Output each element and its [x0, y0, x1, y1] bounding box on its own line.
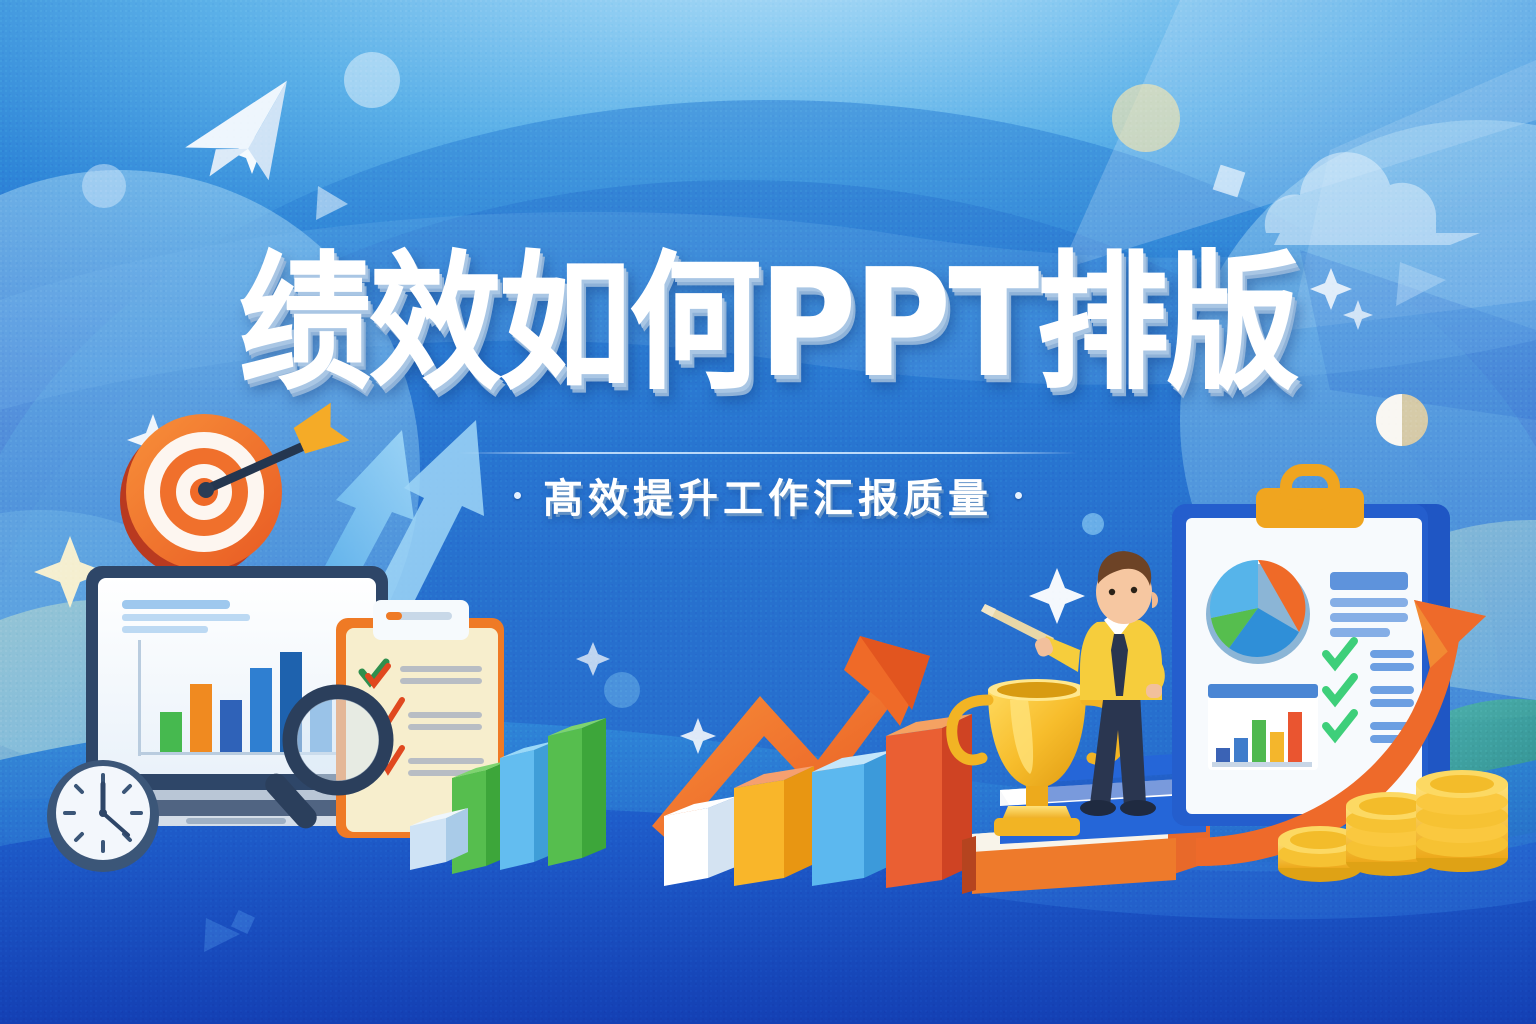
wall-clock-icon [47, 760, 159, 872]
title-block: 绩效如何PPT排版 [0, 258, 1536, 390]
screen-text-line [122, 600, 230, 609]
screen-text-line [122, 614, 250, 621]
coin-stack-large [1416, 770, 1508, 872]
subtitle-divider [458, 452, 1078, 454]
dartboard-icon [120, 402, 350, 578]
subtitle-dot-left [514, 492, 521, 499]
screen-text-line [122, 626, 208, 633]
clipboard-blue-icon [1172, 470, 1450, 826]
poster-canvas: 绩效如何PPT排版 髙效提升工作汇报质量 [0, 0, 1536, 1024]
bar-chart-3d-icon [664, 714, 972, 888]
clipboard-mini-bar-chart [1208, 684, 1318, 770]
page-title: 绩效如何PPT排版 [0, 250, 1536, 398]
page-subtitle: 髙效提升工作汇报质量 [543, 466, 993, 524]
subtitle-dot-right [1015, 492, 1022, 499]
